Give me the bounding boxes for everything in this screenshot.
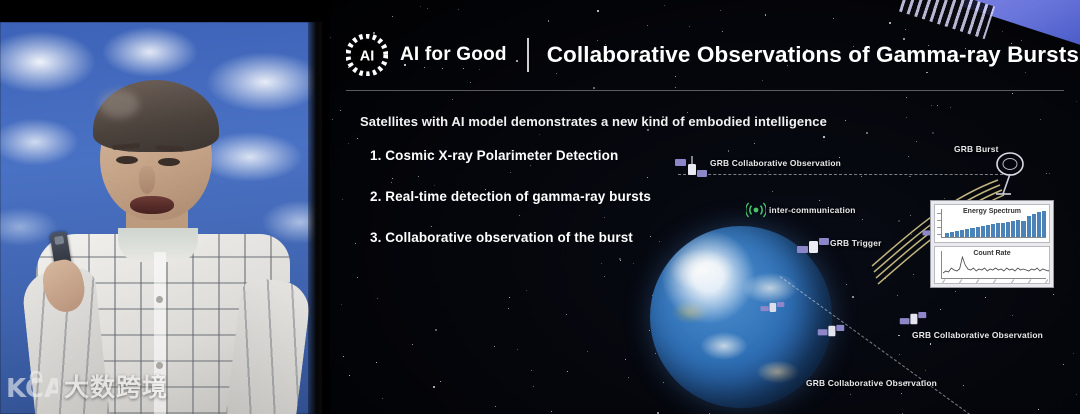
header-underline (346, 90, 1064, 91)
grb-observation-diagram: inter-communication GRB Collaborative Ob… (630, 96, 1080, 414)
label-inter-communication: inter-communication (769, 205, 856, 215)
count-rate-line (943, 253, 1050, 277)
y-axis (941, 209, 942, 238)
mouth (130, 196, 174, 214)
svg-text:AI: AI (360, 49, 375, 65)
brand-name: AI for Good (400, 44, 507, 66)
watermark: KCA 大数跨境 (6, 368, 168, 404)
speaker-video: KCA 大数跨境 (0, 0, 322, 414)
y-tick (937, 234, 941, 235)
y-axis (941, 251, 942, 280)
video-frame: KCA 大数跨境 AI AI for Good (0, 0, 1080, 414)
label-grb-collaborative-observation-bottom: GRB Collaborative Observation (806, 378, 937, 388)
presenter (38, 84, 288, 414)
eye-left (116, 156, 138, 164)
eye-right (158, 158, 180, 166)
bullet-item: 1. Cosmic X-ray Polarimeter Detection (370, 148, 651, 163)
y-tick (937, 220, 941, 221)
y-tick (937, 227, 941, 228)
header-divider (527, 38, 529, 72)
telemetry-inset-panel: Energy Spectrum Count Rate (930, 200, 1054, 288)
x-tick-marks (943, 279, 1047, 284)
label-grb-burst: GRB Burst (954, 144, 999, 154)
label-grb-collaborative-observation-top: GRB Collaborative Observation (710, 158, 841, 168)
shirt-button (156, 296, 163, 303)
hair (93, 80, 219, 152)
letterbox-bar (0, 0, 322, 22)
energy-spectrum-chart: Energy Spectrum (934, 204, 1050, 243)
ai-for-good-logo-icon: AI (346, 34, 388, 76)
satellite-icon (674, 154, 708, 184)
inter-communication-group: inter-communication (746, 202, 856, 218)
label-grb-collaborative-observation-right: GRB Collaborative Observation (912, 330, 1043, 340)
presentation-slide: AI AI for Good Collaborative Observation… (330, 0, 1080, 414)
bullet-list: 1. Cosmic X-ray Polarimeter Detection 2.… (370, 148, 651, 271)
label-grb-trigger: GRB Trigger (830, 238, 882, 248)
bullet-item: 3. Collaborative observation of the burs… (370, 230, 651, 245)
screen-edge (308, 22, 322, 414)
slide-title: Collaborative Observations of Gamma-ray … (547, 42, 1079, 68)
nose (139, 166, 155, 194)
bullet-item: 2. Real-time detection of gamma-ray burs… (370, 189, 651, 204)
kca-logo-icon: KCA (6, 369, 58, 403)
slide-header: AI AI for Good Collaborative Observation… (346, 34, 1079, 76)
satellite-icon (816, 316, 846, 346)
satellite-icon (758, 292, 786, 322)
x-axis (941, 237, 1046, 238)
count-rate-chart: Count Rate (934, 246, 1050, 285)
energy-spectrum-title: Energy Spectrum (963, 208, 1021, 215)
watermark-text: 大数跨境 (64, 368, 168, 404)
satellite-icon (796, 232, 830, 262)
signal-wave-icon (746, 202, 766, 218)
y-tick (937, 213, 941, 214)
count-rate-title: Count Rate (973, 250, 1010, 257)
grb-burst-source-icon (986, 148, 1030, 202)
